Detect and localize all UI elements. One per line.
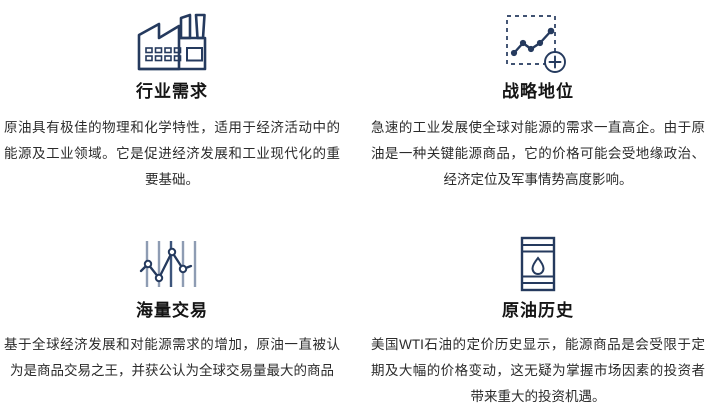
card-body: 急速的工业发展使全球对能源的需求一直高企。由于原油是一种关键能源商品，它的价格可…: [371, 115, 705, 193]
oil-barrel-icon: [514, 229, 562, 299]
card-body: 原油具有极佳的物理和化学特性，适用于经济活动中的能源及工业领域。它是促进经济发展…: [4, 115, 340, 193]
factory-icon: [136, 8, 208, 80]
trading-volume-chart-icon: [139, 229, 205, 299]
feature-grid: 行业需求 原油具有极佳的物理和化学特性，适用于经济活动中的能源及工业领域。它是促…: [0, 0, 711, 414]
feature-card-industry-demand: 行业需求 原油具有极佳的物理和化学特性，适用于经济活动中的能源及工业领域。它是促…: [0, 0, 356, 207]
card-body: 基于全球经济发展和对能源需求的增加，原油一直被认为是商品交易之王，并获公认为全球…: [4, 332, 340, 384]
card-body: 美国WTI石油的定价历史显示，能源商品是会受限于定期及大幅的价格变动，这无疑为掌…: [371, 332, 705, 410]
card-title: 战略地位: [502, 82, 574, 102]
line-chart-add-icon: [504, 8, 572, 80]
feature-card-crude-oil-history: 原油历史 美国WTI石油的定价历史显示，能源商品是会受限于定期及大幅的价格变动，…: [356, 207, 711, 414]
feature-card-strategic-position: 战略地位 急速的工业发展使全球对能源的需求一直高企。由于原油是一种关键能源商品，…: [356, 0, 711, 207]
card-title: 原油历史: [502, 301, 574, 321]
card-title: 海量交易: [136, 301, 208, 321]
feature-card-trading-volume: 海量交易 基于全球经济发展和对能源需求的增加，原油一直被认为是商品交易之王，并获…: [0, 207, 356, 414]
card-title: 行业需求: [136, 82, 208, 102]
